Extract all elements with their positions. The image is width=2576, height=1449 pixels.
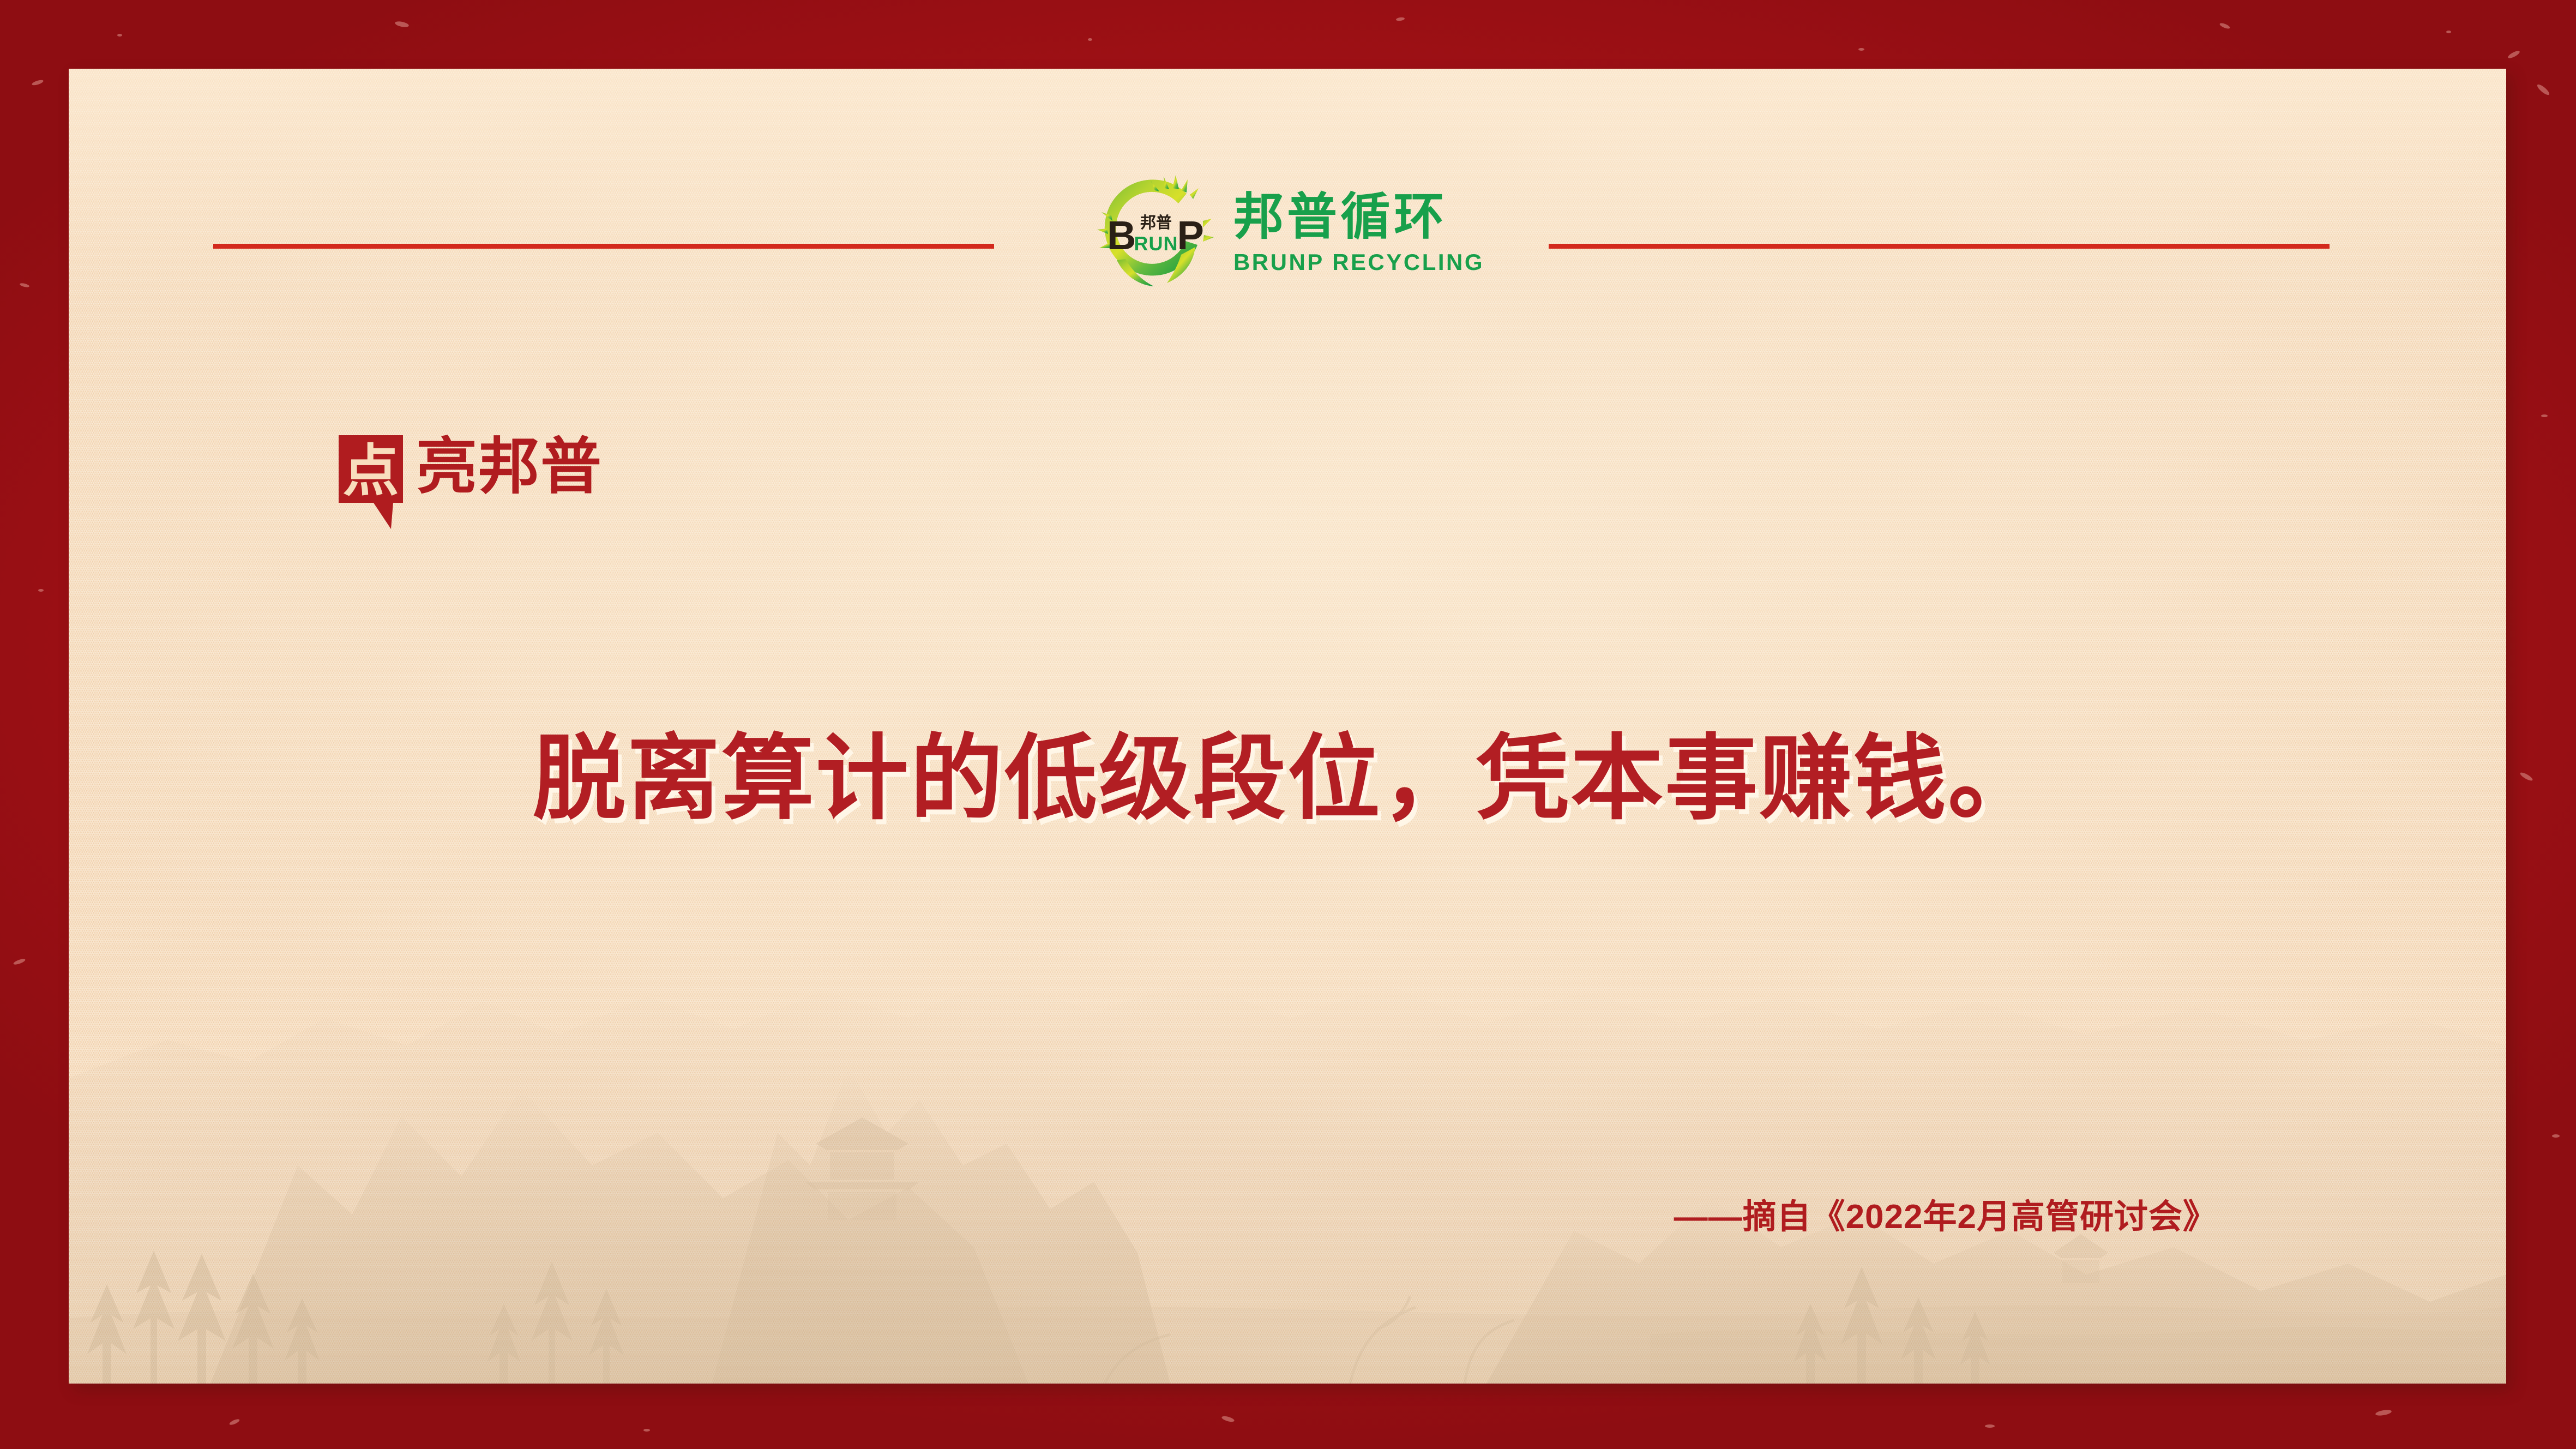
paper-fleck: [2375, 1409, 2392, 1416]
brunp-circle-logo: B 邦普 RUN P: [1091, 169, 1219, 297]
paper-fleck: [2519, 771, 2534, 782]
paper-fleck: [31, 79, 44, 86]
content-panel: B 邦普 RUN P 邦普循环 BRUNP RECYCLING 点 亮邦普: [69, 69, 2506, 1384]
brunp-monogram: B 邦普 RUN P: [1107, 215, 1203, 256]
monogram-cn: 邦普: [1140, 215, 1172, 231]
monogram-letter-p: P: [1177, 215, 1203, 256]
headline-quote: 脱离算计的低级段位，凭本事赚钱。: [69, 726, 2506, 833]
quote-attribution: ——摘自《2022年2月高管研讨会》: [1674, 1200, 2217, 1234]
paper-fleck: [117, 34, 122, 37]
paper-fleck: [1088, 38, 1092, 41]
brunp-brand-lockup: B 邦普 RUN P 邦普循环 BRUNP RECYCLING: [1091, 169, 1484, 297]
paper-fleck: [13, 958, 26, 965]
divider-left: [213, 244, 994, 249]
brand-text-block: 邦普循环 BRUNP RECYCLING: [1233, 192, 1484, 274]
paper-fleck: [2541, 414, 2548, 417]
paper-fleck: [1985, 1424, 1995, 1428]
paper-fleck: [1858, 48, 1864, 51]
paper-fleck: [38, 589, 44, 592]
brand-header: B 邦普 RUN P 邦普循环 BRUNP RECYCLING: [69, 186, 2506, 295]
paper-fleck: [2552, 1134, 2560, 1138]
paper-fleck: [1221, 1415, 1235, 1423]
paper-fleck: [1396, 17, 1405, 21]
paper-fleck: [2446, 31, 2451, 33]
chinese-ink-landscape-watermark: [69, 784, 2506, 1384]
paper-fleck: [228, 1418, 240, 1426]
monogram-run: RUN: [1134, 234, 1178, 254]
paper-fleck: [2219, 22, 2230, 30]
paper-fleck: [2536, 83, 2550, 97]
brand-name-en: BRUNP RECYCLING: [1233, 251, 1484, 274]
brand-name-cn: 邦普循环: [1233, 192, 1484, 242]
speech-bubble-icon: 点: [339, 435, 415, 531]
bubble-char: 点: [339, 438, 403, 503]
paper-fleck: [394, 20, 409, 28]
paper-fleck: [2507, 50, 2521, 59]
monogram-letter-b: B: [1107, 215, 1135, 256]
section-logo-text: 亮邦普: [416, 436, 603, 497]
divider-right: [1549, 244, 2330, 249]
paper-fleck: [20, 282, 30, 288]
section-logo-dianliang-bangpu: 点 亮邦普: [339, 435, 603, 531]
paper-fleck: [643, 1429, 650, 1432]
